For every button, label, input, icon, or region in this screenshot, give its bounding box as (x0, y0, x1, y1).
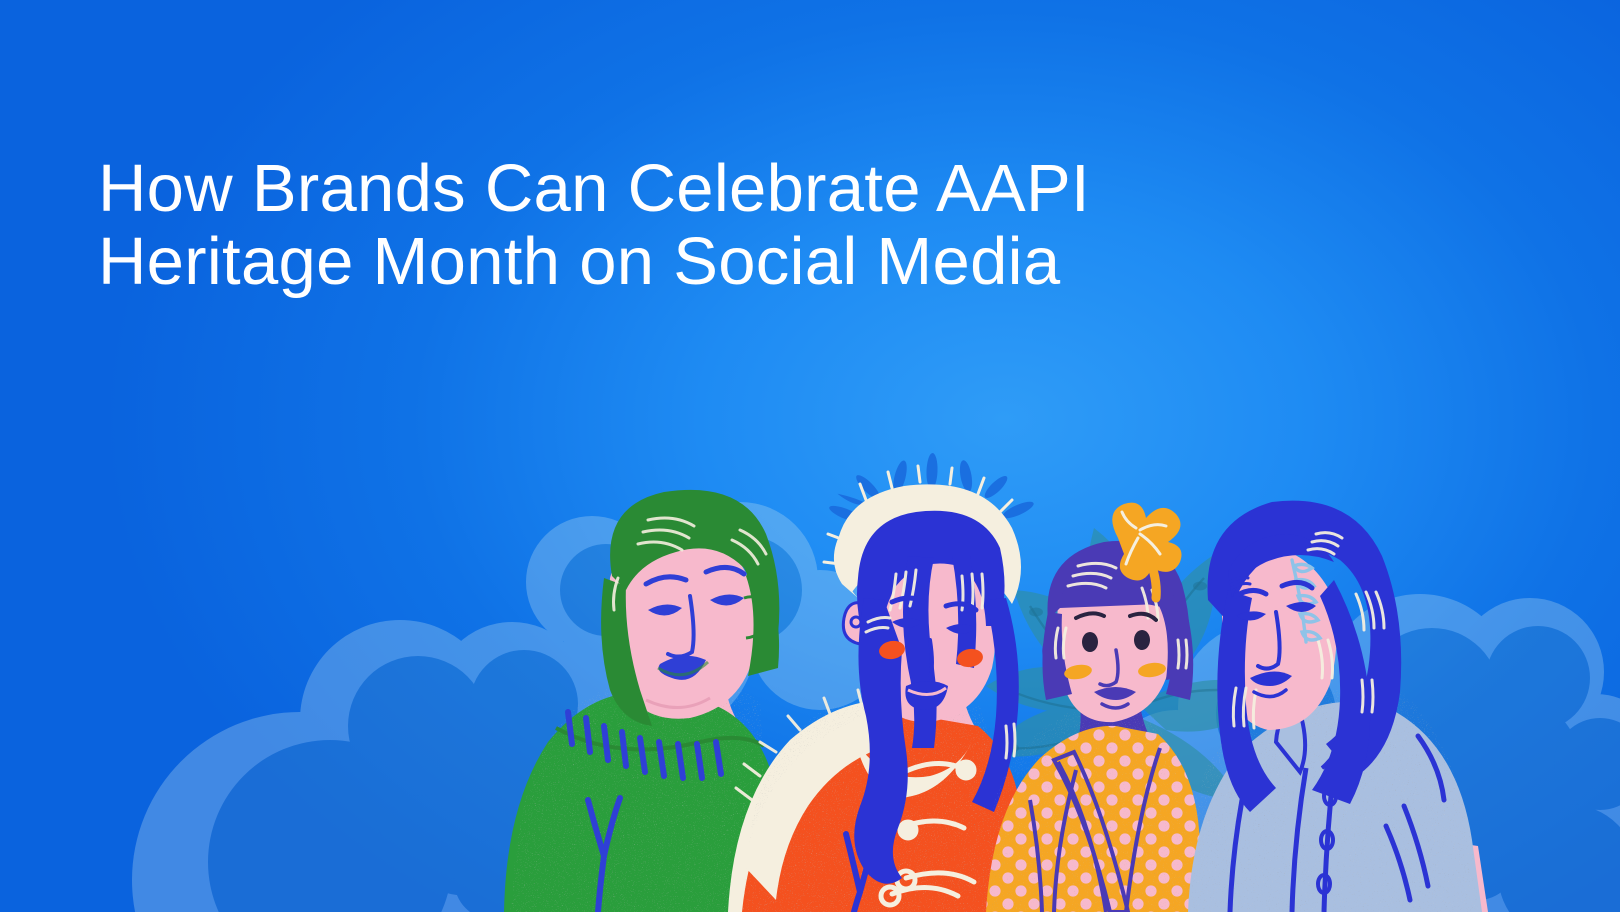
banner-root: How Brands Can Celebrate AAPI Heritage M… (0, 0, 1620, 912)
illustration-artwork (0, 0, 1620, 912)
page-title: How Brands Can Celebrate AAPI Heritage M… (98, 152, 1218, 298)
